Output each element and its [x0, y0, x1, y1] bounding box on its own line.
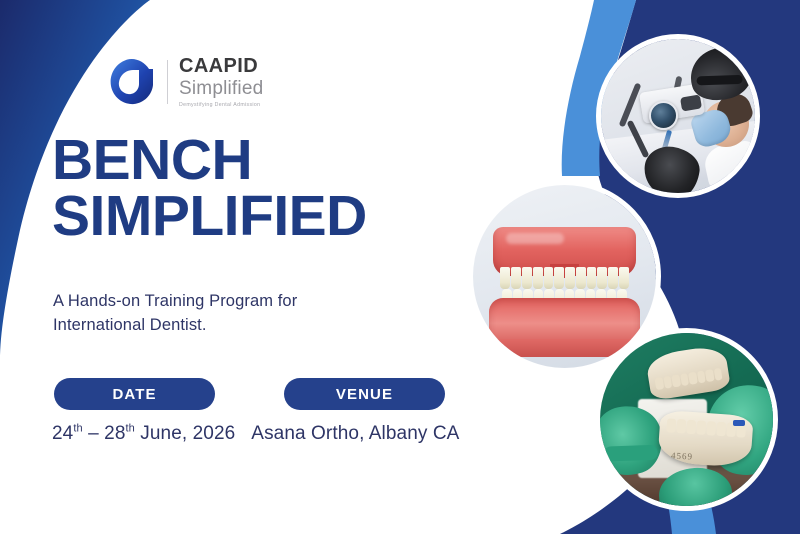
event-date-value: 24th – 28th June, 2026 [52, 423, 235, 444]
promo-banner: 4569 CAAPID Simplified Demystifying Dent… [0, 0, 800, 534]
headline-line-2: SIMPLIFIED [52, 189, 367, 245]
date-end: 28 [104, 423, 125, 444]
brand-logo: CAAPID Simplified Demystifying Dental Ad… [108, 56, 263, 108]
date-separator: – [88, 423, 99, 444]
model-teeth-ridge [655, 368, 723, 390]
logo-subname: Simplified [179, 79, 263, 98]
photo-inner: 4569 [600, 333, 773, 506]
page-title: BENCH SIMPLIFIED [52, 133, 367, 245]
event-details: 24th – 28th June, 2026Asana Ortho, Alban… [52, 423, 472, 445]
date-end-ordinal: th [126, 423, 135, 435]
logo-divider [167, 60, 168, 104]
model-code-label: 4569 [671, 450, 693, 461]
photo-inner [601, 39, 755, 193]
venue-label-pill: VENUE [284, 378, 445, 410]
caapid-circular-mark-icon [108, 57, 156, 107]
logo-name: CAAPID [179, 56, 263, 76]
specular-highlight [506, 233, 565, 244]
subtitle-line-1: A Hands-on Training Program for [53, 292, 297, 310]
date-month-year: June, 2026 [135, 423, 235, 444]
microscope-lens [649, 101, 678, 130]
blue-marker-dot [733, 420, 745, 427]
logo-wordmark: CAAPID Simplified Demystifying Dental Ad… [179, 56, 263, 108]
subtitle-line-2: International Dentist. [53, 316, 207, 334]
logo-tagline: Demystifying Dental Admission [179, 103, 263, 108]
photo-dental-stone-models-gloved-hands: 4569 [595, 328, 778, 511]
upper-teeth-row [500, 267, 628, 289]
event-venue-value: Asana Ortho, Albany CA [251, 423, 459, 444]
date-start-ordinal: th [73, 423, 82, 435]
photo-dental-microscope-procedure [596, 34, 760, 198]
content-column: CAAPID Simplified Demystifying Dental Ad… [0, 0, 470, 534]
headline-line-1: BENCH [52, 128, 252, 192]
date-label-pill: DATE [54, 378, 215, 410]
date-start: 24 [52, 423, 73, 444]
subtitle: A Hands-on Training Program for Internat… [53, 290, 297, 338]
